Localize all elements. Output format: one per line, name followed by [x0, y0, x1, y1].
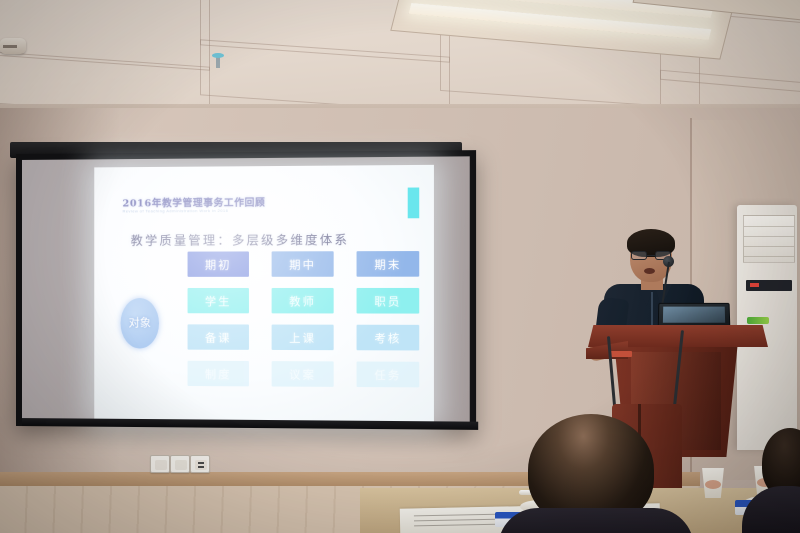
laptop-screen	[663, 307, 725, 323]
matrix-cell: 职员	[357, 288, 420, 314]
matrix-header-cell: 期末	[357, 251, 420, 277]
power-outlet[interactable]	[190, 455, 210, 473]
audience-member-shoulders	[498, 508, 694, 533]
slide-matrix: 期初 期中 期末 学生 教师 职员 备课 上课 考核 制度 议案 任务	[188, 251, 420, 387]
ac-display-panel	[746, 280, 792, 291]
projected-slide: 2016年教学管理事务工作回顾 Review of Teaching Admin…	[94, 165, 434, 421]
slide-subtitle: 教学质量管理：多层级多维度体系	[131, 231, 350, 249]
matrix-cell-faded: 任务	[357, 361, 420, 387]
ac-display-led	[750, 283, 759, 287]
matrix-cell: 教师	[272, 288, 334, 313]
laptop-lid	[658, 303, 731, 328]
matrix-cell-faded: 制度	[188, 361, 249, 387]
matrix-cell-faded: 议案	[272, 361, 334, 387]
object-badge-label: 对象	[129, 317, 151, 329]
matrix-cell: 考核	[357, 325, 420, 351]
ac-air-grille	[743, 215, 795, 263]
screen-surface: 2016年教学管理事务工作回顾 Review of Teaching Admin…	[22, 156, 470, 421]
presenter-mouth	[644, 268, 655, 274]
fire-sprinkler-head	[216, 56, 220, 68]
suspended-ceiling	[0, 0, 800, 120]
light-switch[interactable]	[150, 455, 170, 473]
matrix-header-cell: 期中	[272, 251, 334, 277]
light-switch[interactable]	[170, 455, 190, 473]
podium-nameplate	[610, 351, 632, 357]
screen-frame: 2016年教学管理事务工作回顾 Review of Teaching Admin…	[16, 150, 476, 430]
slide-title-english: Review of Teaching Administration Work i…	[123, 208, 229, 214]
object-badge: 对象	[121, 298, 160, 348]
slide-accent-tab	[408, 187, 420, 218]
matrix-header-cell: 期初	[188, 251, 249, 276]
smoke-detector	[0, 38, 26, 54]
projection-screen: 2016年教学管理事务工作回顾 Review of Teaching Admin…	[8, 142, 470, 432]
matrix-cell: 上课	[272, 325, 334, 351]
matrix-cell: 学生	[188, 288, 249, 313]
conference-room-photo: 2016年教学管理事务工作回顾 Review of Teaching Admin…	[0, 0, 800, 533]
ac-green-decal	[747, 317, 769, 324]
matrix-cell: 备课	[188, 324, 249, 349]
